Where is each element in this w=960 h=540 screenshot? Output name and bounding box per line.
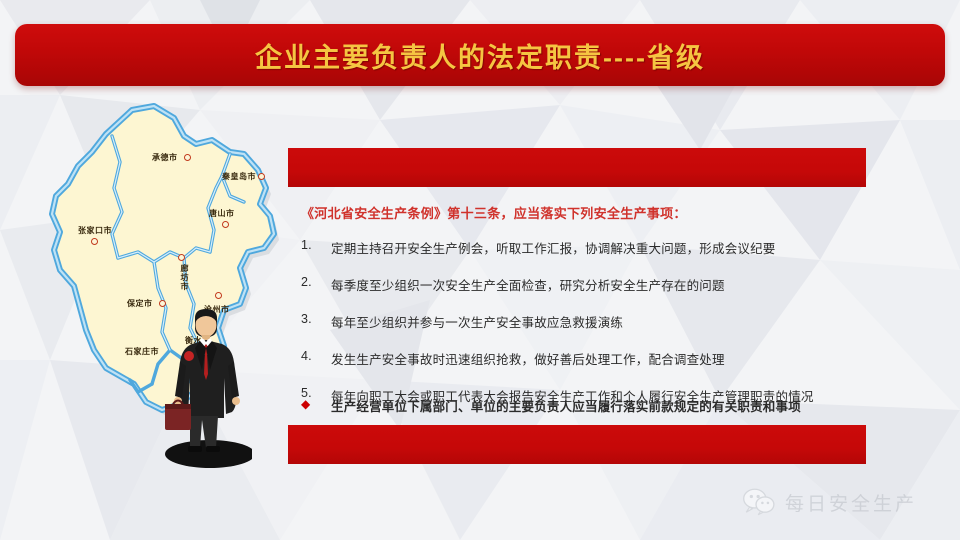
diamond-list-item: ◆ 生产经营单位下属部门、单位的主要负责人应当履行落实前款规定的有关职责和事项	[301, 396, 941, 415]
list-item: 4. 发生生产安全事故时迅速组织抢救，做好善后处理工作，配合调查处理	[301, 349, 901, 368]
content-column: 《河北省安全生产条例》第十三条，应当落实下列安全生产事项： 1. 定期主持召开安…	[288, 148, 866, 187]
hebei-map-panel: 承德市 秦皇岛市 唐山市 张家口市 廊坊市 保定市 沧州市 石家庄市 衡水市	[34, 92, 294, 472]
watermark-text: 每日安全生产	[785, 489, 917, 516]
bottom-red-bar	[288, 425, 866, 464]
list-item-text: 发生生产安全事故时迅速组织抢救，做好善后处理工作，配合调查处理	[331, 353, 725, 367]
list-item-text: 每季度至少组织一次安全生产全面检查，研究分析安全生产存在的问题	[331, 279, 725, 293]
clause-heading: 《河北省安全生产条例》第十三条，应当落实下列安全生产事项：	[301, 203, 687, 222]
top-red-bar	[288, 148, 866, 187]
wechat-icon	[742, 488, 776, 516]
list-item-text: 定期主持召开安全生产例会，听取工作汇报，协调解决重大问题，形成会议纪要	[331, 242, 776, 256]
city-label-tangshan: 唐山市	[209, 208, 235, 219]
city-label-baoding: 保定市	[127, 298, 153, 309]
diamond-item-text: 生产经营单位下属部门、单位的主要负责人应当履行落实前款规定的有关职责和事项	[331, 400, 801, 414]
page-title: 企业主要负责人的法定职责----省级	[255, 36, 705, 75]
title-banner: 企业主要负责人的法定职责----省级	[15, 24, 945, 86]
city-dot-cangzhou	[215, 292, 222, 299]
city-dot-langfang	[178, 254, 185, 261]
city-label-chengde: 承德市	[152, 152, 178, 163]
list-item-number: 2.	[301, 275, 323, 289]
list-item: 1. 定期主持召开安全生产例会，听取工作汇报，协调解决重大问题，形成会议纪要	[301, 238, 901, 257]
city-label-shijiazhuang: 石家庄市	[125, 346, 159, 357]
list-item-number: 4.	[301, 349, 323, 363]
diamond-bullet-icon: ◆	[301, 398, 310, 410]
city-label-qinhuangdao: 秦皇岛市	[222, 171, 256, 182]
slide-root: 企业主要负责人的法定职责----省级	[0, 0, 960, 540]
city-dot-chengde	[184, 154, 191, 161]
city-dot-qinhuangdao	[258, 173, 265, 180]
businessman-figure	[162, 308, 252, 468]
city-label-zhangjiakou: 张家口市	[78, 225, 112, 236]
city-dot-tangshan	[222, 221, 229, 228]
city-dot-baoding	[159, 300, 166, 307]
list-item: 2. 每季度至少组织一次安全生产全面检查，研究分析安全生产存在的问题	[301, 275, 901, 294]
list-item: 3. 每年至少组织并参与一次生产安全事故应急救援演练	[301, 312, 901, 331]
list-item-number: 3.	[301, 312, 323, 326]
list-item-text: 每年至少组织并参与一次生产安全事故应急救援演练	[331, 316, 623, 330]
list-item-number: 1.	[301, 238, 323, 252]
city-dot-zhangjiakou	[91, 238, 98, 245]
watermark: 每日安全生产	[742, 488, 917, 516]
city-label-langfang: 廊坊市	[179, 264, 190, 291]
